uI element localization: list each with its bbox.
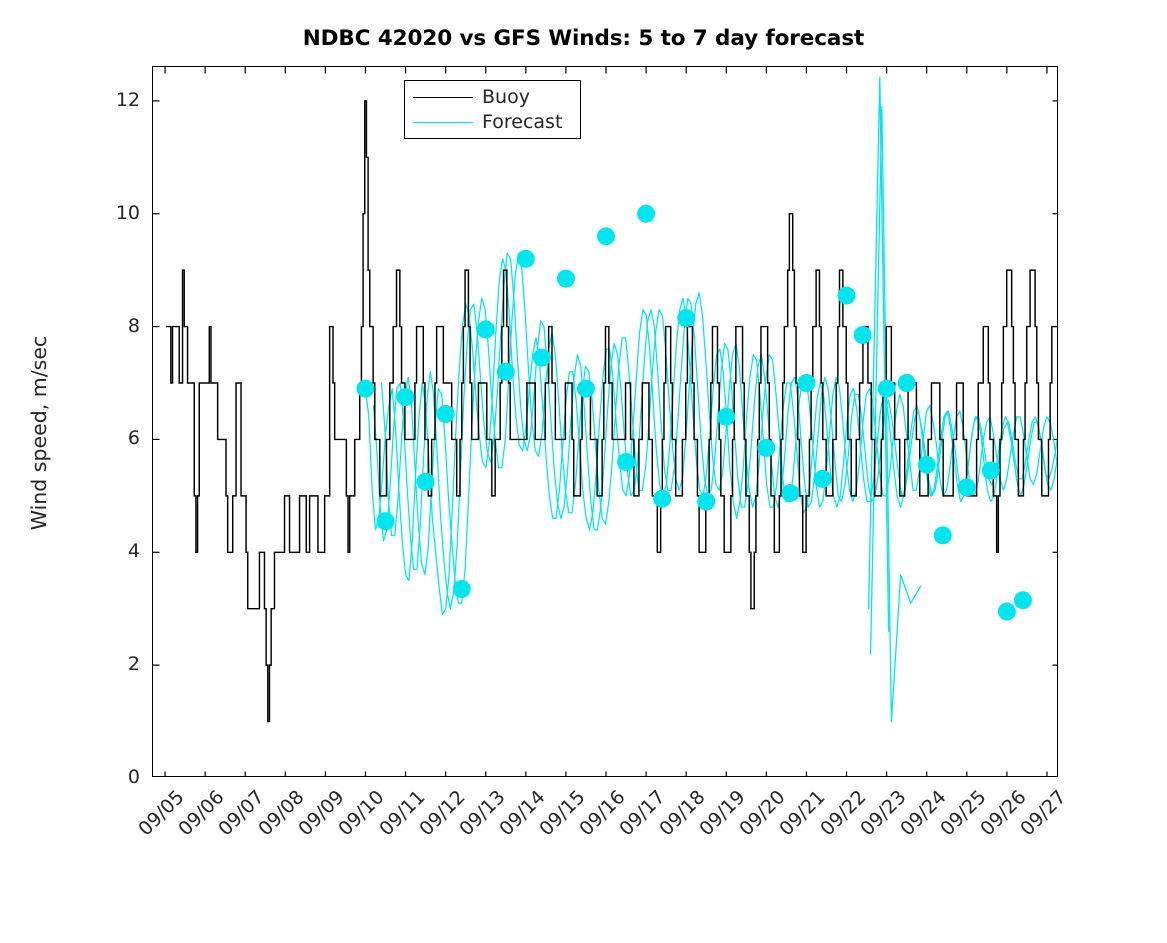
x-tick-marks-top xyxy=(165,67,1047,74)
legend-label-forecast: Forecast xyxy=(482,113,562,132)
forecast-marker-point xyxy=(1014,591,1032,609)
forecast-marker-point xyxy=(717,408,735,426)
forecast-marker-point xyxy=(637,205,655,223)
forecast-marker-point xyxy=(597,227,615,245)
forecast-marker-point xyxy=(497,363,515,381)
legend-item-forecast: Forecast xyxy=(413,110,572,135)
forecast-marker-point xyxy=(617,453,635,471)
y-tick-marks-left xyxy=(153,101,160,777)
forecast-marker-point xyxy=(797,374,815,392)
x-tick-marks-bottom xyxy=(165,772,1047,778)
legend-label-buoy: Buoy xyxy=(482,88,530,107)
forecast-marker-point xyxy=(397,388,415,406)
forecast-marker-point xyxy=(697,493,715,511)
forecast-marker-point xyxy=(813,470,831,488)
forecast-marker-point xyxy=(453,580,471,598)
forecast-marker-point xyxy=(838,287,856,305)
chart-legend: Buoy Forecast xyxy=(404,80,581,139)
buoy-series-line xyxy=(166,101,1058,722)
forecast-marker-point xyxy=(517,250,535,268)
forecast-marker-point xyxy=(878,380,896,398)
plot-svg xyxy=(153,67,1058,777)
legend-swatch-forecast-icon xyxy=(413,122,473,123)
buoy-path xyxy=(166,101,1058,722)
forecast-marker-point xyxy=(557,270,575,288)
forecast-marker-point xyxy=(577,380,595,398)
forecast-marker-point xyxy=(677,309,695,327)
forecast-marker-point xyxy=(653,490,671,508)
forecast-marker-point xyxy=(417,473,435,491)
forecast-series-lines xyxy=(365,77,1058,721)
forecast-marker-point xyxy=(982,461,1000,479)
forecast-marker-point xyxy=(477,320,495,338)
plot-area xyxy=(152,66,1058,777)
forecast-marker-point xyxy=(958,478,976,496)
forecast-run-path xyxy=(373,253,1058,609)
chart-figure: NDBC 42020 vs GFS Winds: 5 to 7 day fore… xyxy=(0,0,1167,875)
forecast-marker-point xyxy=(998,603,1016,621)
legend-item-buoy: Buoy xyxy=(413,85,572,110)
forecast-marker-point xyxy=(854,326,872,344)
forecast-marker-point xyxy=(918,456,936,474)
forecast-marker-point xyxy=(356,380,374,398)
forecast-marker-point xyxy=(377,512,395,530)
forecast-marker-point xyxy=(757,439,775,457)
forecast-marker-point xyxy=(437,405,455,423)
legend-swatch-buoy-icon xyxy=(413,97,473,98)
forecast-marker-point xyxy=(934,526,952,544)
forecast-marker-point xyxy=(781,484,799,502)
forecast-marker-point xyxy=(898,374,916,392)
forecast-marker-point xyxy=(533,349,551,367)
